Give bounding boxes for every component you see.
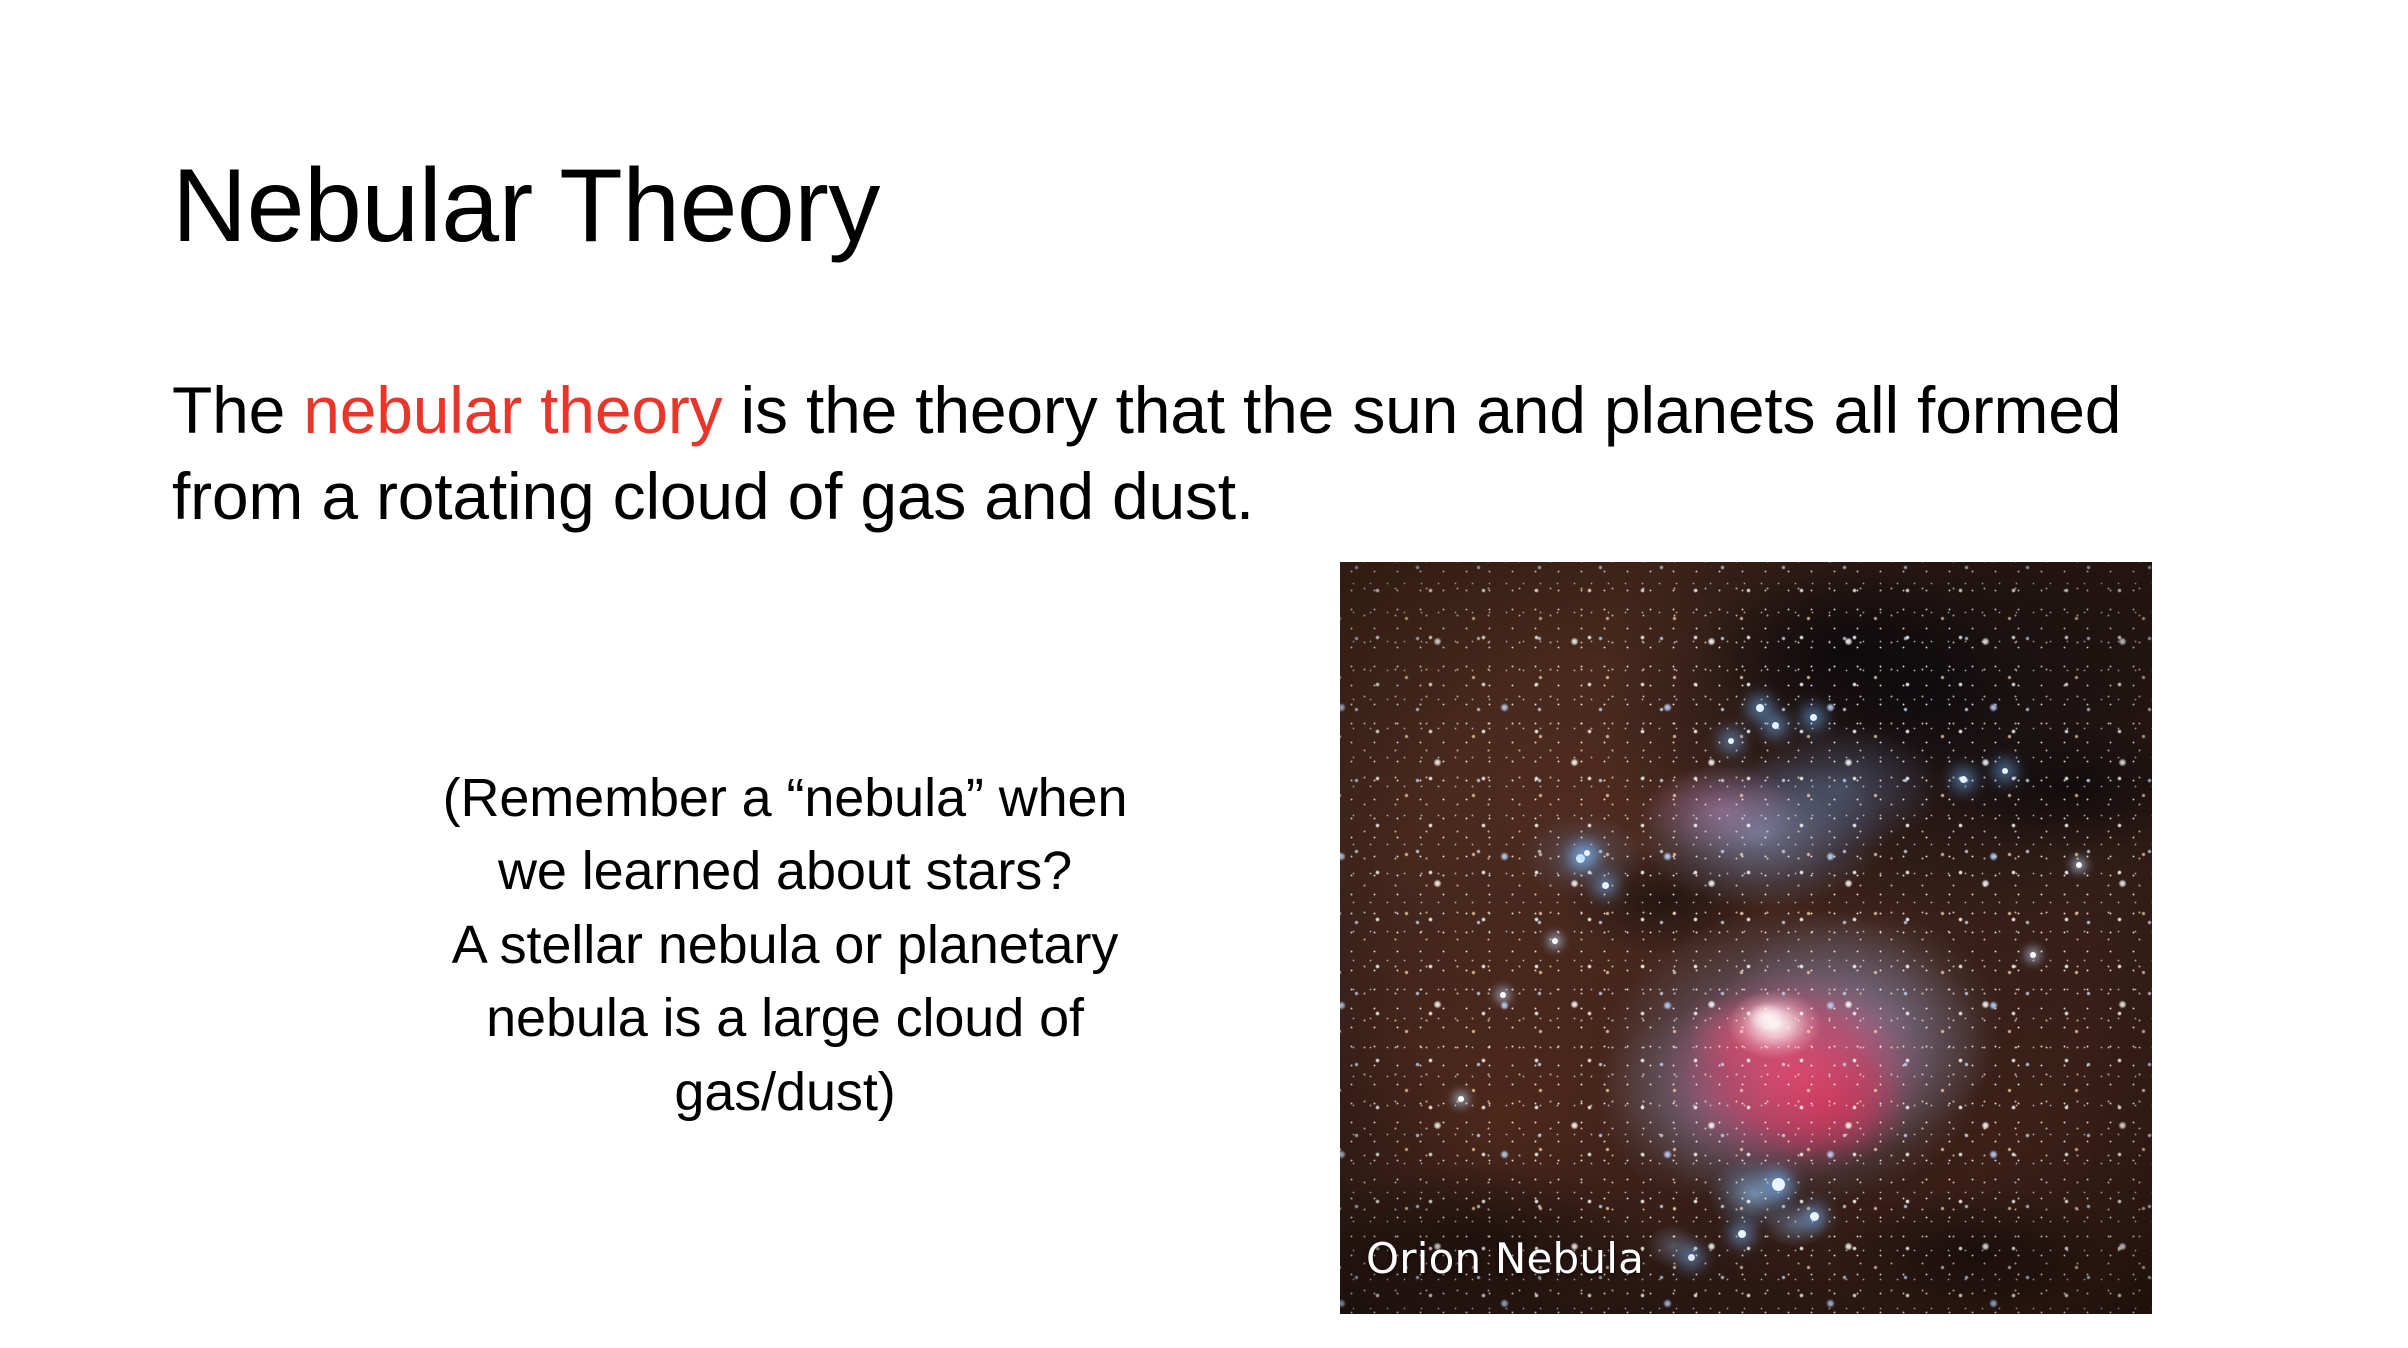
slide-canvas: Nebular Theory The nebular theory is the… — [0, 0, 2408, 1348]
body-paragraph: The nebular theory is the theory that th… — [172, 368, 2232, 540]
nebula-vignette — [1340, 562, 2152, 1314]
note-line: we learned about stars? — [395, 835, 1175, 908]
parenthetical-note: (Remember a “nebula” when we learned abo… — [395, 762, 1175, 1129]
note-line: gas/dust) — [395, 1056, 1175, 1129]
image-caption: Orion Nebula — [1366, 1238, 1644, 1280]
body-lead-text: The — [172, 373, 303, 447]
note-line: nebula is a large cloud of — [395, 982, 1175, 1055]
note-line: A stellar nebula or planetary — [395, 909, 1175, 982]
note-line: (Remember a “nebula” when — [395, 762, 1175, 835]
page-title: Nebular Theory — [172, 148, 2232, 264]
highlighted-term: nebular theory — [303, 373, 722, 447]
orion-nebula-image: Orion Nebula — [1340, 562, 2152, 1314]
